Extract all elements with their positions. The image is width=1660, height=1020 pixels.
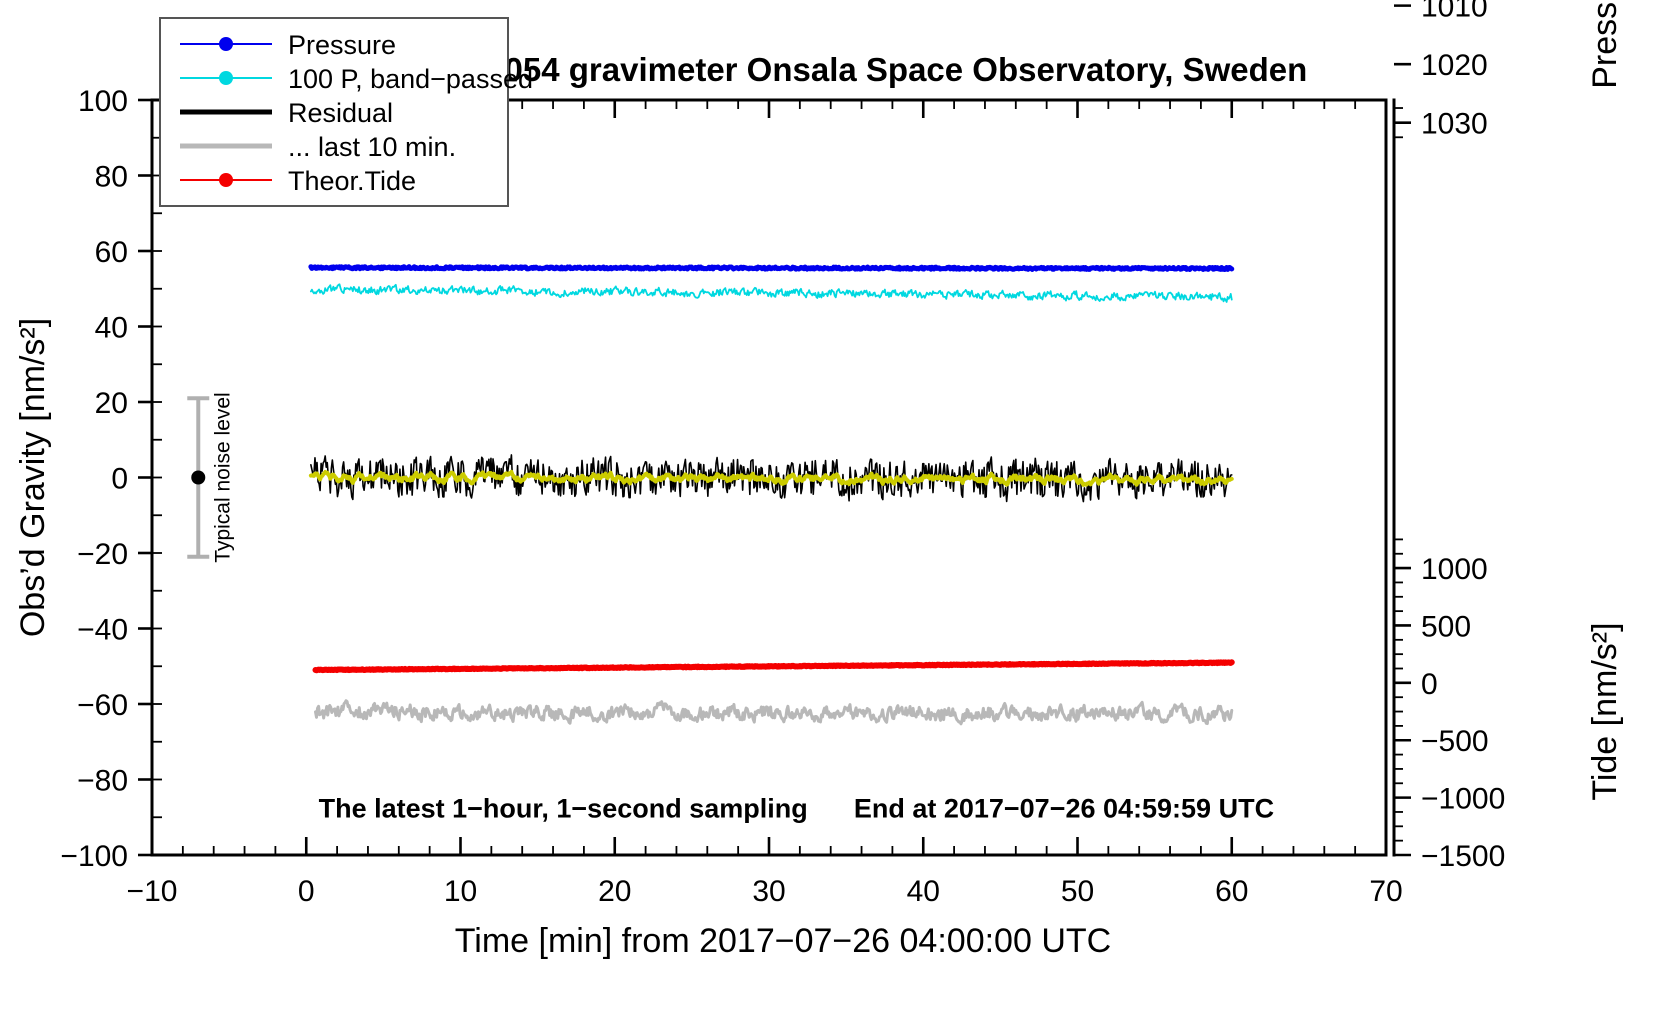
y-tick-label-pressure: 1010 — [1421, 0, 1488, 24]
x-tick-label: 60 — [1215, 875, 1248, 908]
x-tick-label: 10 — [444, 875, 477, 908]
y-tick-label-pressure: 1020 — [1421, 49, 1488, 82]
legend-item-label: ... last 10 min. — [288, 132, 456, 162]
x-tick-label: 20 — [598, 875, 631, 908]
y-tick-label-gravity: 100 — [78, 85, 128, 118]
noise-level-label: Typical noise level — [211, 392, 234, 562]
y-tick-label-tide: 1000 — [1421, 553, 1488, 586]
x-axis-title: Time [min] from 2017−07−26 04:00:00 UTC — [455, 922, 1111, 960]
series-line-pressure — [311, 267, 1232, 270]
x-tick-label: 40 — [907, 875, 940, 908]
y-axis-title-tide: Tide [nm/s²] — [1586, 622, 1624, 800]
legend-swatch-marker — [219, 71, 233, 85]
legend: Pressure100 P, band−passedResidual... la… — [160, 18, 533, 206]
sampling-note: The latest 1−hour, 1−second sampling — [319, 793, 808, 823]
x-tick-label: 30 — [752, 875, 785, 908]
y-tick-label-tide: −1000 — [1421, 783, 1505, 816]
legend-swatch-marker — [219, 173, 233, 187]
chart-title: SCG_054 gravimeter Onsala Space Observat… — [415, 51, 1308, 88]
end-time-note: End at 2017−07−26 04:59:59 UTC — [854, 793, 1274, 823]
y-axis-title-gravity: Obs’d Gravity [nm/s²] — [14, 318, 52, 637]
y-tick-label-tide: −500 — [1421, 725, 1489, 758]
y-tick-label-gravity: 0 — [111, 463, 128, 496]
y-tick-label-gravity: −100 — [60, 840, 128, 873]
chart-canvas: −10010203040506070 100806040200−20−40−60… — [0, 0, 1660, 1020]
y-tick-label-gravity: 60 — [95, 236, 128, 269]
legend-swatch-marker — [219, 37, 233, 51]
legend-item-label: Theor.Tide — [288, 166, 416, 196]
y-tick-label-tide: 500 — [1421, 610, 1471, 643]
noise-center-dot — [191, 471, 205, 485]
y-axis-title-pressure: Pressure [hPa] — [1586, 0, 1624, 89]
x-tick-label: 50 — [1061, 875, 1094, 908]
x-tick-label: 70 — [1369, 875, 1402, 908]
gravimeter-chart: −10010203040506070 100806040200−20−40−60… — [0, 0, 1660, 1020]
y-tick-label-tide: −1500 — [1421, 840, 1505, 873]
y-tick-label-pressure: 1030 — [1421, 108, 1488, 141]
legend-item-label: 100 P, band−passed — [288, 64, 533, 94]
y-tick-label-gravity: −60 — [77, 689, 128, 722]
y-tick-label-tide: 0 — [1421, 668, 1438, 701]
y-tick-label-gravity: −20 — [77, 538, 128, 571]
y-tick-label-gravity: 40 — [95, 312, 128, 345]
plot-annotations: The latest 1−hour, 1−second samplingEnd … — [319, 793, 1274, 823]
y-tick-label-gravity: 20 — [95, 387, 128, 420]
x-tick-label: 0 — [298, 875, 315, 908]
y-tick-label-gravity: −40 — [77, 614, 128, 647]
y-tick-label-gravity: 80 — [95, 161, 128, 194]
x-tick-label: −10 — [127, 875, 178, 908]
legend-item-label: Pressure — [288, 30, 396, 60]
y-tick-label-gravity: −80 — [77, 765, 128, 798]
legend-item-label: Residual — [288, 98, 393, 128]
